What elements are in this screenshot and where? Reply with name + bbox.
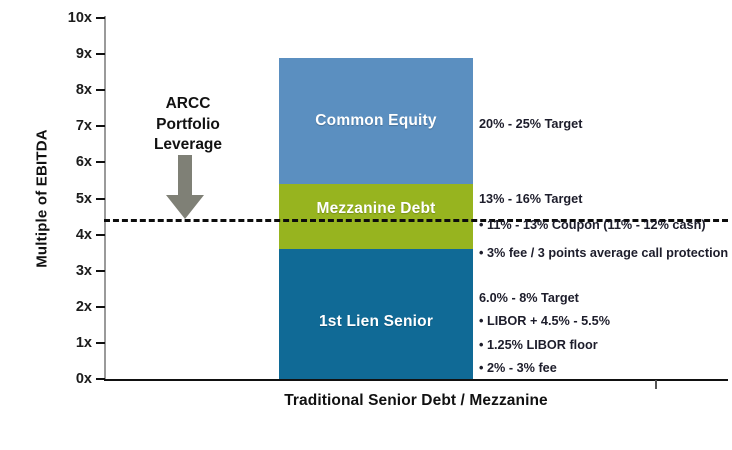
leverage-callout: ARCC Portfolio Leverage	[128, 94, 248, 156]
y-axis-tick-label: 10x	[36, 11, 92, 26]
bar-segment-mezzanine-debt[interactable]: Mezzanine Debt	[279, 184, 473, 249]
y-axis-tick	[96, 161, 105, 163]
y-axis-tick-label: 9x	[36, 47, 92, 62]
y-axis-tick-label: 0x	[36, 372, 92, 387]
leverage-callout-label: ARCC Portfolio Leverage	[128, 94, 248, 156]
y-axis-tick	[96, 234, 105, 236]
bar-segment-1st-lien-senior[interactable]: 1st Lien Senior	[279, 249, 473, 379]
y-axis-tick	[96, 270, 105, 272]
annotation-item: 1.25% LIBOR floor	[479, 339, 598, 352]
annotation-item: 13% - 16% Target	[479, 193, 582, 206]
x-axis-tick	[655, 380, 657, 389]
y-axis-tick	[96, 125, 105, 127]
stacked-bar-chart: Multiple of EBITDA 0x1x2x3x4x5x6x7x8x9x1…	[0, 0, 732, 450]
y-axis-tick	[96, 53, 105, 55]
annotation-item: 6.0% - 8% Target	[479, 292, 579, 305]
bar-segment-label: Common Equity	[315, 112, 436, 130]
y-axis-tick-label: 5x	[36, 192, 92, 207]
annotation-item: 3% fee / 3 points average call protectio…	[479, 247, 728, 260]
annotation-item: LIBOR + 4.5% - 5.5%	[479, 315, 610, 328]
down-arrow-icon	[163, 155, 207, 221]
annotation-item: 20% - 25% Target	[479, 118, 582, 131]
bar-segment-common-equity[interactable]: Common Equity	[279, 58, 473, 184]
y-axis-tick	[96, 17, 105, 19]
y-axis-tick-label: 2x	[36, 300, 92, 315]
y-axis-tick	[96, 378, 105, 380]
y-axis-tick-label: 4x	[36, 228, 92, 243]
y-axis-tick-label: 6x	[36, 155, 92, 170]
bar-segment-label: 1st Lien Senior	[319, 313, 433, 331]
y-axis-tick-labels: 0x1x2x3x4x5x6x7x8x9x10x	[30, 0, 92, 400]
y-axis-tick	[96, 342, 105, 344]
y-axis-tick-label: 7x	[36, 119, 92, 134]
x-axis-line	[104, 379, 728, 381]
annotation-item: 11% - 13% Coupon (11% - 12% cash)	[479, 219, 706, 232]
y-axis-tick-label: 8x	[36, 83, 92, 98]
x-axis-title: Traditional Senior Debt / Mezzanine	[104, 392, 728, 410]
y-axis-tick	[96, 198, 105, 200]
y-axis-tick-label: 3x	[36, 264, 92, 279]
y-axis-tick	[96, 306, 105, 308]
bar-segment-label: Mezzanine Debt	[316, 200, 435, 218]
y-axis-tick-label: 1x	[36, 336, 92, 351]
annotation-item: 2% - 3% fee	[479, 362, 557, 375]
y-axis-tick	[96, 89, 105, 91]
